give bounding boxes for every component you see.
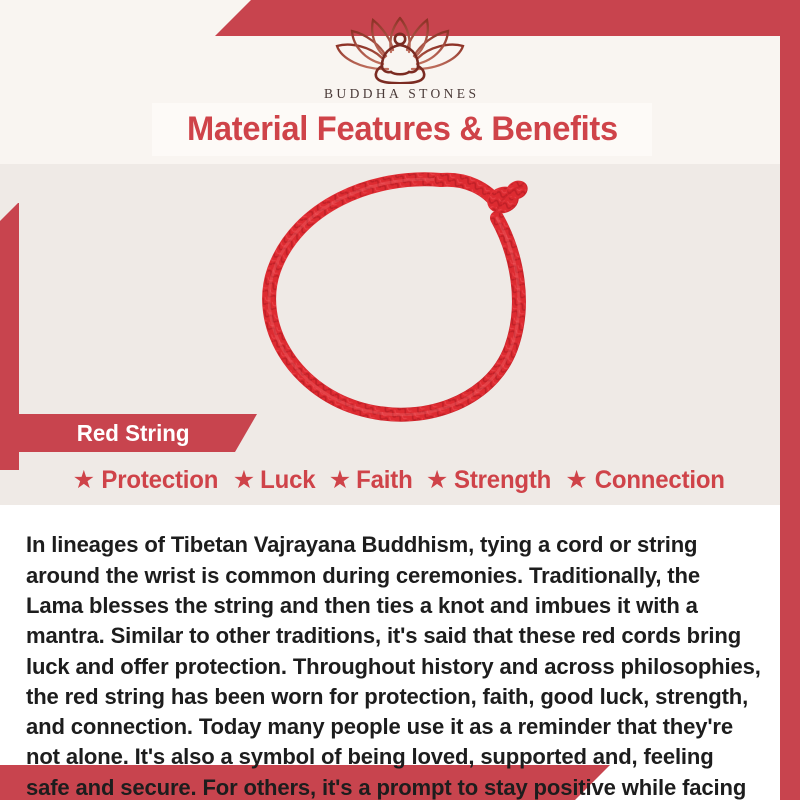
feature-label-faith: Faith (356, 466, 412, 495)
page-title: Material Features & Benefits (187, 110, 618, 149)
feature-item-faith: ★ Faith (329, 466, 414, 495)
feature-item-protection: ★ Protection (73, 466, 221, 495)
product-image-red-string-bracelet (245, 162, 575, 430)
material-features-infographic: BUDDHA STONES Material Features & Benefi… (0, 0, 800, 800)
decorative-bar-left (0, 203, 19, 470)
lotus-meditation-icon (0, 12, 800, 84)
feature-item-strength: ★ Strength (426, 466, 554, 495)
title-banner: Material Features & Benefits (152, 103, 652, 156)
description-paragraph: In lineages of Tibetan Vajrayana Buddhis… (26, 530, 763, 800)
product-label-banner: Red String (19, 414, 257, 452)
feature-label-connection: Connection (595, 466, 725, 495)
brand-logo: BUDDHA STONES (0, 12, 800, 102)
star-icon: ★ (73, 468, 95, 493)
product-label: Red String (77, 420, 190, 447)
feature-item-connection: ★ Connection (565, 466, 727, 495)
star-icon: ★ (426, 468, 448, 493)
feature-label-protection: Protection (102, 466, 219, 495)
star-icon: ★ (329, 468, 351, 493)
star-icon: ★ (233, 468, 255, 493)
feature-label-luck: Luck (260, 466, 315, 495)
feature-item-luck: ★ Luck (233, 466, 317, 495)
brand-name: BUDDHA STONES (0, 86, 800, 102)
feature-list: ★ Protection ★ Luck ★ Faith ★ Strength ★… (0, 466, 800, 495)
feature-label-strength: Strength (454, 466, 551, 495)
decorative-bar-right (780, 0, 800, 800)
star-icon: ★ (565, 468, 587, 493)
